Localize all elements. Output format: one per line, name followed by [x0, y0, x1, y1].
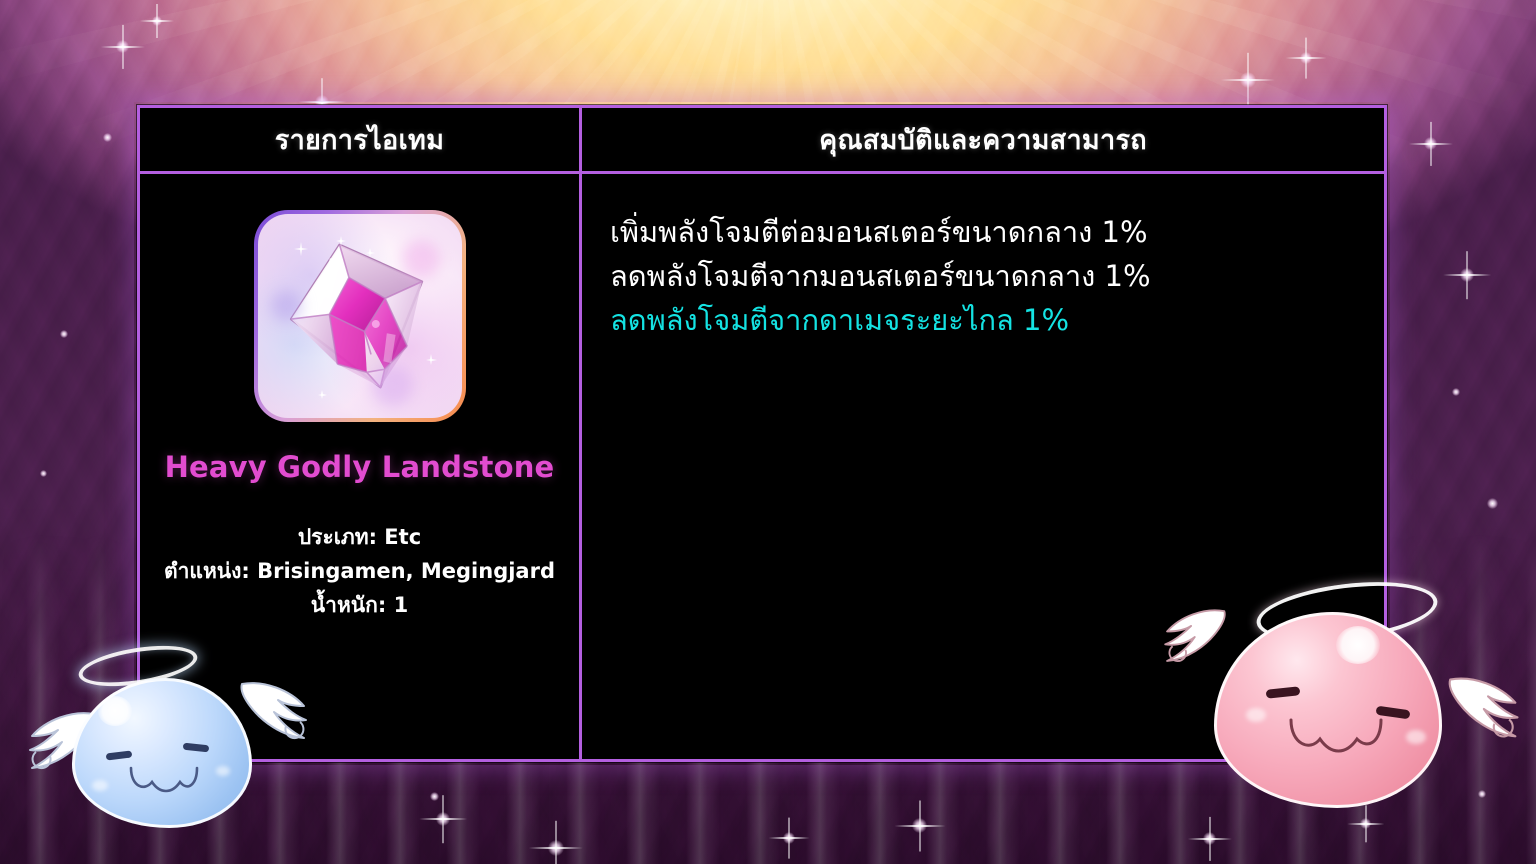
property-line-highlight: ลดพลังโจมตีจากดาเมจระยะไกล 1%: [610, 298, 1354, 342]
slime-highlight: [98, 696, 132, 726]
item-icon-background: [258, 214, 462, 418]
slime-cheek: [1246, 708, 1266, 722]
sparkle-icon: [318, 390, 327, 399]
slime-cheek: [216, 766, 230, 776]
table-header-row: รายการไอเทม คุณสมบัติและความสามารถ: [140, 108, 1384, 174]
item-meta-position: ตำแหน่ง: Brisingamen, Megingjard: [164, 554, 555, 588]
slime-mouth: [128, 766, 200, 798]
table-header-item-list: รายการไอเทม: [140, 108, 582, 171]
sparkle-icon: [300, 302, 308, 310]
item-icon-frame[interactable]: [254, 210, 466, 422]
sparkle-icon: [426, 354, 437, 365]
item-meta: ประเภท: Etc ตำแหน่ง: Brisingamen, Meging…: [164, 520, 555, 622]
screenshot-stage: รายการไอเทม คุณสมบัติและความสามารถ: [0, 0, 1536, 864]
table-header-properties: คุณสมบัติและความสามารถ: [582, 108, 1384, 171]
slime-cheek: [1406, 730, 1426, 744]
item-name: Heavy Godly Landstone: [165, 450, 555, 484]
slime-cheek: [92, 780, 108, 791]
property-line: เพิ่มพลังโจมตีต่อมอนสเตอร์ขนาดกลาง 1%: [610, 210, 1354, 254]
blue-angel-slime: [20, 640, 310, 840]
pink-angel-slime: [1148, 578, 1536, 828]
item-meta-weight: น้ำหนัก: 1: [164, 588, 555, 622]
property-line: ลดพลังโจมตีจากมอนสเตอร์ขนาดกลาง 1%: [610, 254, 1354, 298]
slime-highlight: [1336, 626, 1380, 664]
item-meta-type: ประเภท: Etc: [164, 520, 555, 554]
sparkle-icon: [294, 242, 308, 256]
wing-icon: [1446, 666, 1528, 752]
sparkle-icon: [336, 236, 346, 246]
gemstone-icon: [265, 218, 453, 413]
wing-icon: [238, 678, 316, 746]
wing-icon: [1156, 596, 1228, 678]
sparkle-icon: [366, 248, 375, 257]
slime-mouth: [1288, 718, 1384, 760]
slime-body: [72, 678, 252, 828]
